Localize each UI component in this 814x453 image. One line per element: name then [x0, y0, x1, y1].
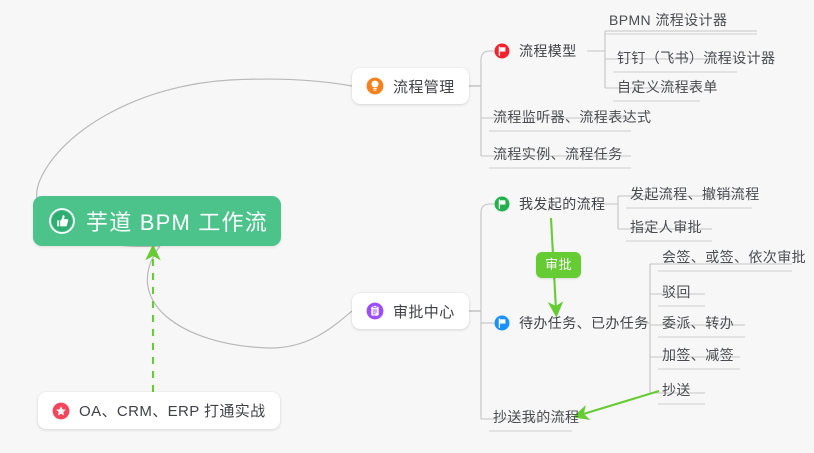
note-label: OA、CRM、ERP 打通实战	[79, 400, 266, 421]
flag-red-icon	[494, 43, 510, 59]
leaf-delegate-transfer[interactable]: 委派、转办	[658, 312, 740, 340]
leaf-cc[interactable]: 抄送	[658, 379, 697, 407]
node-todo-done-task[interactable]: 待办任务、已办任务	[494, 310, 649, 336]
leaf-label: 驳回	[662, 281, 691, 303]
leaf-reject[interactable]: 驳回	[658, 281, 697, 309]
branch-approval-center[interactable]: 审批中心	[352, 293, 469, 329]
node-my-started-process[interactable]: 我发起的流程	[494, 191, 605, 217]
lightbulb-icon	[366, 77, 384, 95]
node-process-model[interactable]: 流程模型	[494, 38, 577, 64]
star-icon	[52, 402, 70, 420]
leaf-assignee-approval[interactable]: 指定人审批	[626, 216, 708, 244]
leaf-cc-to-me-process[interactable]: 抄送我的流程	[489, 406, 585, 434]
leaf-label: 钉钉（飞书）流程设计器	[617, 47, 775, 69]
mindmap-canvas: 芋道 BPM 工作流 OA、CRM、ERP 打通实战 流程管理	[0, 0, 814, 453]
leaf-countersign[interactable]: 会签、或签、依次审批	[658, 246, 812, 274]
flag-blue-icon	[494, 315, 510, 331]
root-node[interactable]: 芋道 BPM 工作流	[33, 196, 281, 246]
leaf-label: 加签、减签	[662, 344, 734, 366]
approval-annotation-chip[interactable]: 审批	[536, 252, 581, 278]
leaf-dingtalk-feishu-designer[interactable]: 钉钉（飞书）流程设计器	[613, 47, 781, 75]
branch-process-management[interactable]: 流程管理	[352, 68, 469, 104]
chip-label: 审批	[545, 257, 572, 272]
leaf-label: BPMN 流程设计器	[609, 9, 727, 31]
node-label: 我发起的流程	[519, 194, 605, 214]
leaf-label: 会签、或签、依次审批	[662, 246, 806, 268]
note-node[interactable]: OA、CRM、ERP 打通实战	[38, 392, 280, 429]
leaf-listener-expression[interactable]: 流程监听器、流程表达式	[489, 106, 657, 134]
branch-label: 审批中心	[393, 301, 455, 322]
leaf-label: 抄送	[662, 379, 691, 401]
leaf-label: 流程实例、流程任务	[493, 143, 623, 165]
flag-green-icon	[494, 196, 510, 212]
leaf-start-cancel-process[interactable]: 发起流程、撤销流程	[626, 183, 766, 211]
node-label: 流程模型	[519, 41, 577, 61]
root-label: 芋道 BPM 工作流	[86, 205, 268, 237]
cc-flow-arrow	[580, 391, 659, 415]
leaf-label: 指定人审批	[630, 216, 702, 238]
branch-label: 流程管理	[393, 76, 455, 97]
leaf-add-remove-sign[interactable]: 加签、减签	[658, 344, 740, 372]
leaf-instance-task[interactable]: 流程实例、流程任务	[489, 143, 629, 171]
leaf-label: 流程监听器、流程表达式	[493, 106, 651, 128]
clipboard-icon	[366, 302, 384, 320]
leaf-label: 抄送我的流程	[493, 406, 579, 428]
leaf-bpmn-designer[interactable]: BPMN 流程设计器	[605, 9, 733, 37]
leaf-label: 发起流程、撤销流程	[630, 183, 760, 205]
leaf-label: 委派、转办	[662, 312, 734, 334]
node-label: 待办任务、已办任务	[519, 313, 649, 333]
leaf-label: 自定义流程表单	[617, 76, 718, 98]
leaf-custom-process-form[interactable]: 自定义流程表单	[613, 76, 724, 104]
thumbs-up-icon	[49, 208, 75, 234]
